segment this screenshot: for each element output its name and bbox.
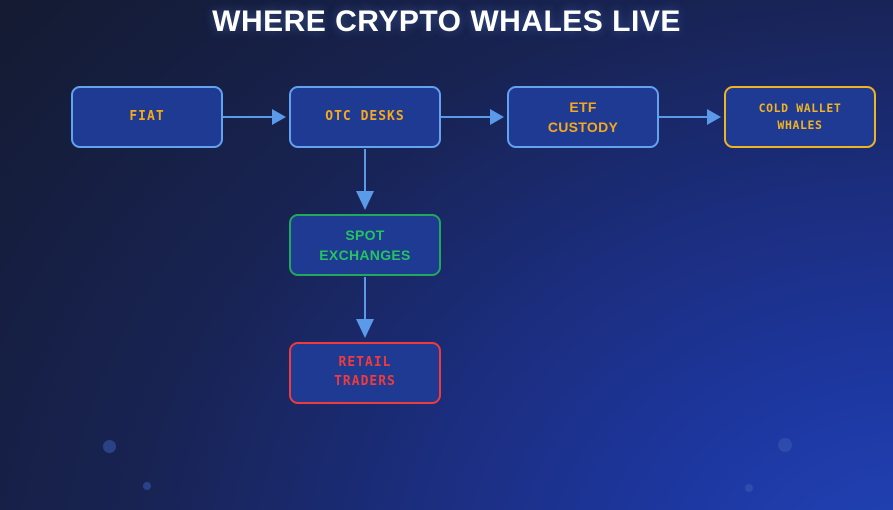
node-etf-custody[interactable]: ETF CUSTODY	[507, 86, 659, 148]
decor-dot	[143, 482, 151, 490]
node-retail-traders-line1: RETAIL	[339, 354, 392, 373]
decor-dot	[778, 438, 792, 452]
node-etf-custody-line2: CUSTODY	[548, 117, 618, 137]
node-fiat[interactable]: FIAT	[71, 86, 223, 148]
node-otc-desks-line1: OTC DESKS	[325, 108, 404, 127]
node-retail-traders[interactable]: RETAIL TRADERS	[289, 342, 441, 404]
diagram-canvas: WHERE CRYPTO WHALES LIVE FIAT OTC DESKS …	[0, 0, 893, 510]
node-spot-exchanges-line2: EXCHANGES	[319, 245, 410, 265]
node-retail-traders-line2: TRADERS	[334, 373, 396, 392]
node-spot-exchanges-line1: SPOT	[345, 225, 384, 245]
node-otc-desks[interactable]: OTC DESKS	[289, 86, 441, 148]
decor-dot	[103, 440, 116, 453]
node-cold-wallet-whales-line1: COLD WALLET	[759, 100, 842, 117]
node-cold-wallet-whales[interactable]: COLD WALLET WHALES	[724, 86, 876, 148]
node-cold-wallet-whales-line2: WHALES	[777, 117, 822, 134]
page-title: WHERE CRYPTO WHALES LIVE	[0, 5, 893, 39]
node-spot-exchanges[interactable]: SPOT EXCHANGES	[289, 214, 441, 276]
node-fiat-line1: FIAT	[129, 108, 164, 127]
decor-dot	[745, 484, 753, 492]
node-etf-custody-line1: ETF	[569, 97, 596, 117]
